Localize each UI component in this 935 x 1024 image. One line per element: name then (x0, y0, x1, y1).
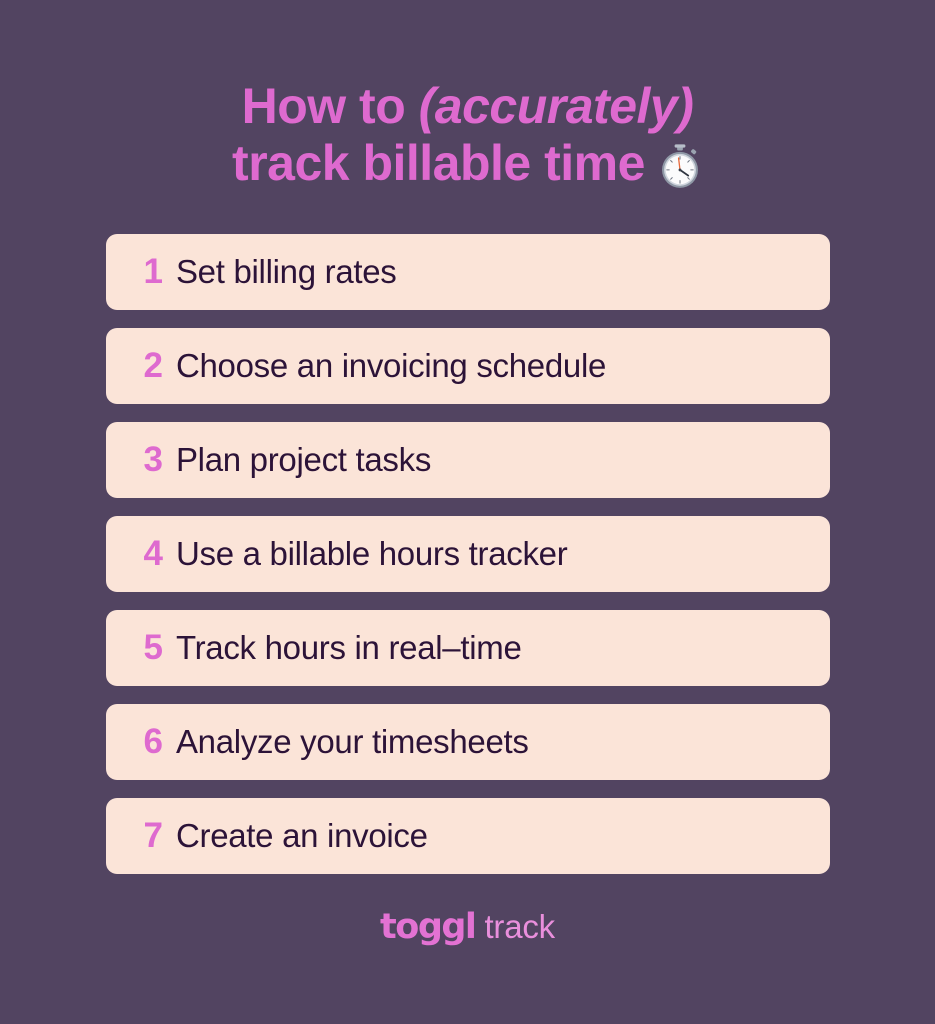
step-number: 4 (144, 536, 163, 571)
step-label: Choose an invoicing schedule (176, 348, 606, 384)
logo-brand-text: toggl (380, 910, 475, 945)
list-item[interactable]: 2 Choose an invoicing schedule (106, 328, 830, 404)
logo-product-text: track (484, 910, 555, 943)
toggl-track-logo: toggl track (380, 910, 555, 945)
title-line-1: How to (accurately) (0, 78, 935, 135)
list-item[interactable]: 1 Set billing rates (106, 234, 830, 310)
step-number: 1 (144, 254, 163, 289)
step-label: Set billing rates (176, 254, 397, 290)
title-prefix: How to (242, 78, 419, 134)
step-label: Use a billable hours tracker (176, 536, 567, 572)
page-title: How to (accurately) track billable time (0, 0, 935, 192)
list-item[interactable]: 6 Analyze your timesheets (106, 704, 830, 780)
step-label: Create an invoice (176, 818, 428, 854)
stopwatch-icon (657, 144, 703, 190)
step-number: 5 (144, 630, 163, 665)
step-label: Plan project tasks (176, 442, 431, 478)
step-number: 7 (144, 818, 163, 853)
infographic-poster: How to (accurately) track billable time (0, 0, 935, 1024)
title-emphasis: (accurately) (419, 78, 694, 134)
step-label: Analyze your timesheets (176, 724, 529, 760)
list-item[interactable]: 7 Create an invoice (106, 798, 830, 874)
title-line-2-text: track billable time (232, 135, 645, 192)
step-number: 3 (144, 442, 163, 477)
list-item[interactable]: 4 Use a billable hours tracker (106, 516, 830, 592)
list-item[interactable]: 3 Plan project tasks (106, 422, 830, 498)
steps-list: 1 Set billing rates 2 Choose an invoicin… (106, 234, 830, 874)
step-number: 6 (144, 724, 163, 759)
step-label: Track hours in real–time (176, 630, 522, 666)
list-item[interactable]: 5 Track hours in real–time (106, 610, 830, 686)
step-number: 2 (144, 348, 163, 383)
title-line-2: track billable time (232, 135, 703, 192)
